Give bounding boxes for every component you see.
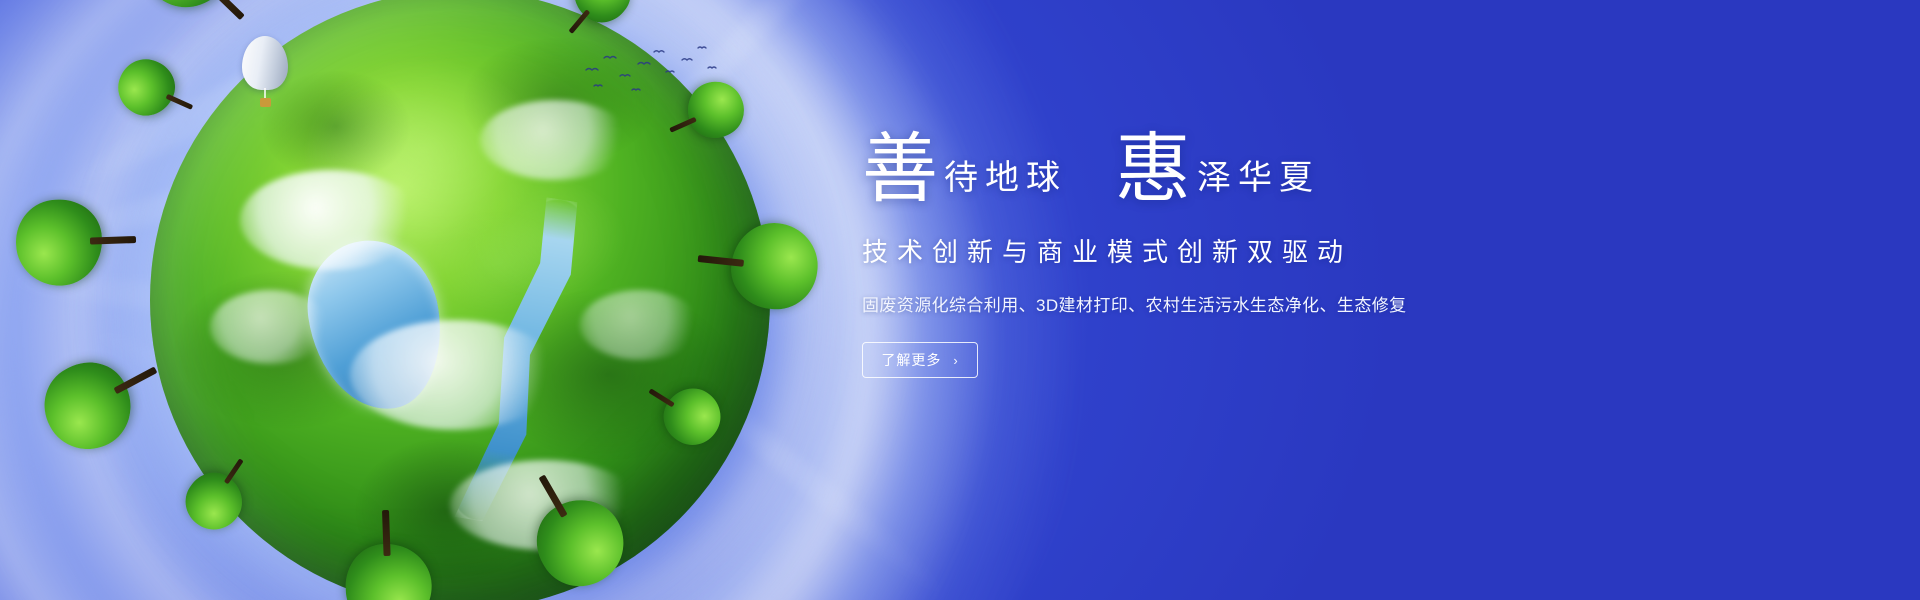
headline-rest-1: 待地球	[944, 162, 1067, 206]
birds-icon	[580, 40, 730, 100]
learn-more-label: 了解更多	[881, 350, 941, 370]
learn-more-button[interactable]: 了解更多 ›	[862, 342, 978, 378]
headline-rest-2: 泽华夏	[1197, 162, 1320, 206]
description: 固废资源化综合利用、3D建材打印、农村生活污水生态净化、生态修复	[862, 291, 1502, 316]
chevron-right-icon: ›	[953, 353, 958, 368]
headline-lead-2: 惠	[1115, 136, 1191, 206]
headline: 善 待地球 惠 泽华夏	[862, 120, 1502, 206]
hero-banner: 善 待地球 惠 泽华夏 技术创新与商业模式创新双驱动 固废资源化综合利用、3D建…	[0, 0, 1920, 600]
hot-air-balloon-icon	[242, 36, 288, 110]
headline-lead-1: 善	[862, 136, 938, 206]
subtitle: 技术创新与商业模式创新双驱动	[862, 232, 1502, 269]
hero-content: 善 待地球 惠 泽华夏 技术创新与商业模式创新双驱动 固废资源化综合利用、3D建…	[862, 120, 1502, 378]
